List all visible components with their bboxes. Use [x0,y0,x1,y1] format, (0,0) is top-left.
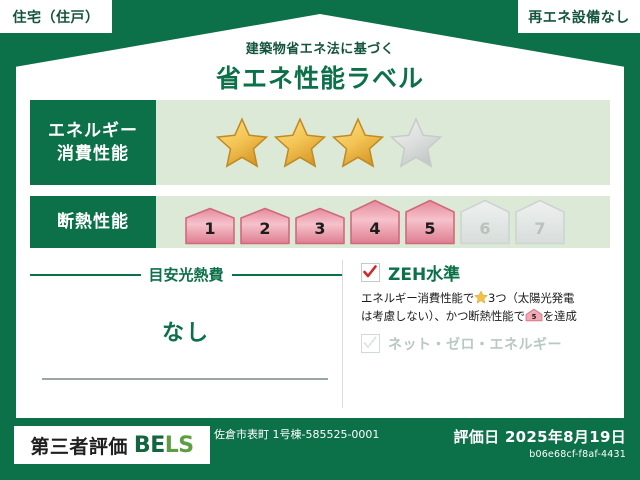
evaluation-date: 評価日 2025年8月19日 [454,426,627,447]
heading-rule-left [30,274,141,276]
evaluation-id: b06e68cf-f8af-4431 [454,449,627,460]
energy-cost-value: なし [30,315,342,347]
star-rating [156,117,442,169]
energy-cost-heading: 目安光熱費 [30,264,342,285]
net-zero-energy-label: ネット・ゼロ・エネルギー [388,334,562,354]
house-level-number: 4 [349,219,401,238]
heading-rule-right [232,274,343,276]
insulation-performance-row: 断熱性能 1234567 [30,196,610,248]
check-icon [363,265,377,279]
zeh-desc-line2-a: は考慮しない）、かつ断熱性能で [361,309,525,323]
page-title: 省エネ性能ラベル [0,59,640,95]
energy-performance-label: エネルギー 消費性能 [30,100,156,185]
star-icon-filled [332,117,384,169]
insulation-performance-label-text: 断熱性能 [57,211,129,233]
bels-logo-en-part1: BE [134,433,165,458]
check-icon-disabled [363,336,377,350]
property-address: 佐倉市表町 1号棟-585525-0001 [214,428,394,443]
energy-performance-label-line2: 消費性能 [57,143,129,165]
energy-performance-row: エネルギー 消費性能 [30,100,610,185]
zeh-title-text: ZEH水準 [388,260,460,285]
house-level-1: 1 [184,207,236,245]
zeh-title-row: ZEH水準 [361,260,610,285]
house-level-number: 1 [184,219,236,238]
header: 建築物省エネ法に基づく 省エネ性能ラベル [0,38,640,95]
header-subtitle: 建築物省エネ法に基づく [0,38,640,57]
zeh-desc-line1-a: エネルギー消費性能で [361,291,474,305]
bels-logo: 第三者評価 BELS [14,426,210,464]
label-card: エネルギー 消費性能 断熱性能 1234567 目安光熱費 なし [16,88,624,418]
inline-house-icon: 5 [525,308,543,322]
house-level-6: 6 [459,199,511,245]
house-level-5: 5 [404,199,456,245]
house-level-number: 6 [459,219,511,238]
star-icon-filled [274,117,326,169]
house-rating-scale: 1234567 [156,199,566,245]
house-level-number: 3 [294,219,346,238]
star-icon-filled [216,117,268,169]
energy-cost-underline [42,378,328,380]
net-zero-energy-row: ネット・ゼロ・エネルギー [361,334,610,354]
lower-section: 目安光熱費 なし ZEH水準 エネルギー消費性能で3つ（太陽光発電 は考慮しない… [30,260,610,408]
house-level-3: 3 [294,207,346,245]
zeh-description: エネルギー消費性能で3つ（太陽光発電 は考慮しない）、かつ断熱性能で5を達成 [361,290,610,326]
bels-logo-jp: 第三者評価 [30,432,128,459]
house-level-7: 7 [514,199,566,245]
footer: 第三者評価 BELS 佐倉市表町 1号棟-585525-0001 評価日 202… [0,418,640,480]
house-level-2: 2 [239,207,291,245]
energy-cost-heading-text: 目安光熱費 [149,264,224,285]
house-level-4: 4 [349,199,401,245]
evaluation-date-label: 評価日 [454,428,500,446]
net-zero-energy-checkbox[interactable] [361,334,380,353]
evaluation-date-value: 2025年8月19日 [505,428,626,446]
house-level-number: 5 [404,219,456,238]
house-level-number: 2 [239,219,291,238]
bels-logo-en-part2: LS [165,433,194,458]
zeh-checkbox[interactable] [361,263,380,282]
svg-text:5: 5 [531,313,536,321]
inline-star-icon [474,290,488,304]
energy-performance-body [156,100,610,185]
panel-divider [342,260,343,408]
zeh-desc-line1-b: 3つ（太陽光発電 [488,291,574,305]
star-icon-empty [390,117,442,169]
energy-performance-label-line1: エネルギー [48,120,138,142]
zeh-desc-line2-b: を達成 [543,309,577,323]
zeh-panel: ZEH水準 エネルギー消費性能で3つ（太陽光発電 は考慮しない）、かつ断熱性能で… [353,260,610,408]
evaluation-info: 評価日 2025年8月19日 b06e68cf-f8af-4431 [454,426,627,460]
insulation-performance-label: 断熱性能 [30,196,156,248]
energy-cost-panel: 目安光熱費 なし [30,260,342,408]
bels-logo-en: BELS [134,433,194,458]
house-level-number: 7 [514,219,566,238]
insulation-performance-body: 1234567 [156,196,610,248]
